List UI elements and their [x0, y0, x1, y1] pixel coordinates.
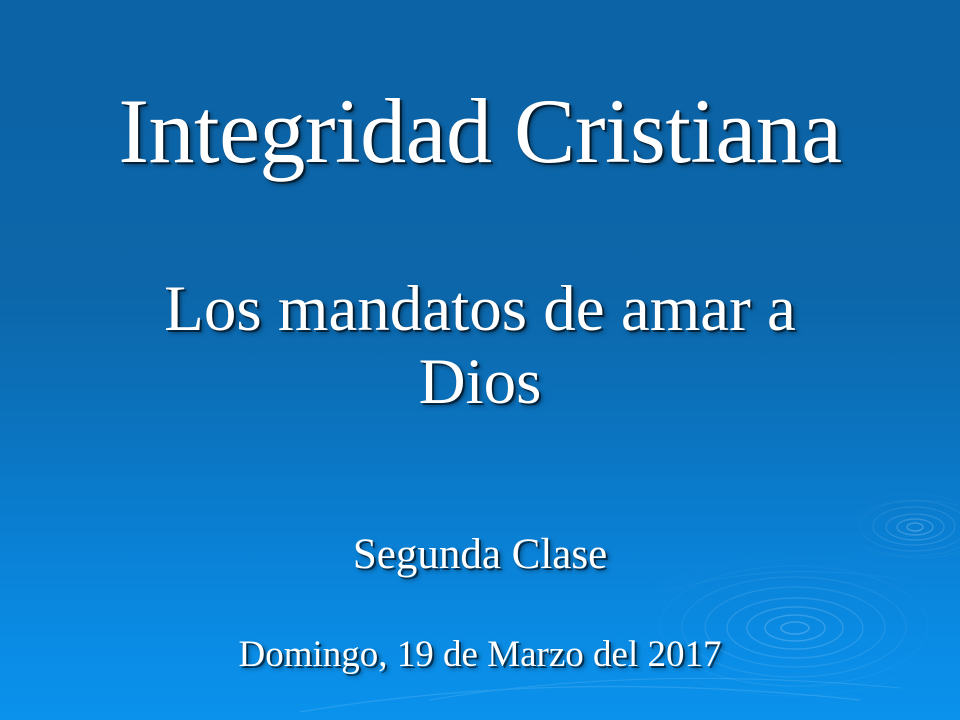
slide-session-label: Segunda Clase [0, 533, 960, 578]
slide-title: Integridad Cristiana [0, 84, 960, 180]
presentation-slide: Integridad Cristiana Los mandatos de ama… [0, 0, 960, 720]
slide-subtitle: Los mandatos de amar a Dios [40, 273, 920, 419]
wave-accent-lines [300, 678, 900, 712]
slide-date: Domingo, 19 de Marzo del 2017 [0, 636, 960, 674]
